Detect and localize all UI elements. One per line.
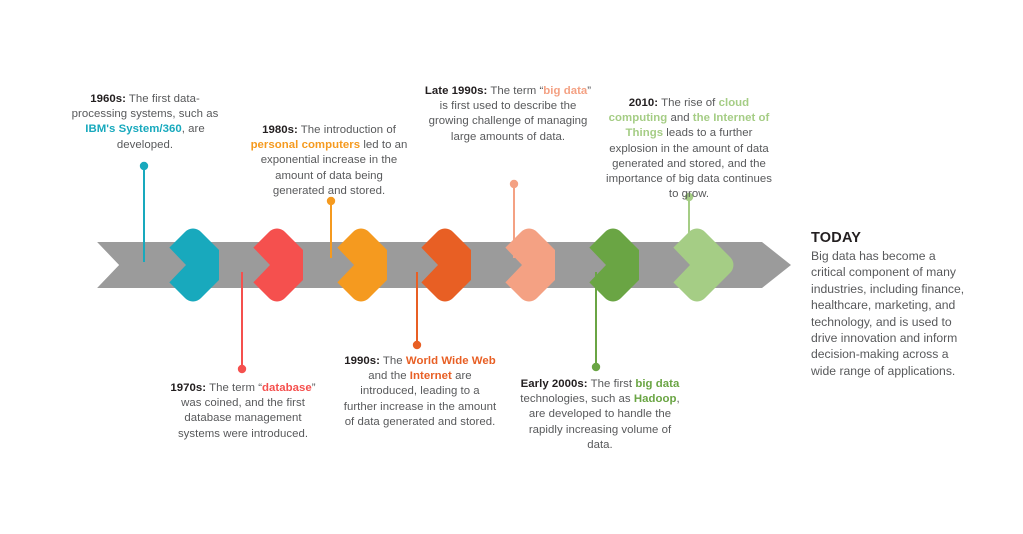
callout-1990s-text-1: The xyxy=(380,355,406,367)
today-panel: TODAY Big data has become a critical com… xyxy=(811,229,971,379)
callout-1970s-text-1: The term “ xyxy=(206,382,262,394)
callout-2010-text-1: The rise of xyxy=(658,97,718,109)
callout-1960s: 1960s: The first data-processing systems… xyxy=(66,92,224,153)
callout-late-1990s-highlight: big data xyxy=(543,85,587,97)
callout-1960s-label: 1960s: xyxy=(90,93,126,105)
callout-1960s-highlight: IBM's System/360 xyxy=(85,123,181,135)
callout-late-1990s-label: Late 1990s: xyxy=(425,85,488,97)
callout-2010: 2010: The rise of cloud computing and th… xyxy=(604,96,774,202)
today-title: TODAY xyxy=(811,229,971,247)
today-body: Big data has become a critical component… xyxy=(811,248,971,379)
callout-1980s: 1980s: The introduction of personal comp… xyxy=(249,123,409,199)
callout-2010-label: 2010: xyxy=(629,97,658,109)
callout-2010-text-mid: and xyxy=(667,112,693,124)
callout-1990s: 1990s: The World Wide Web and the Intern… xyxy=(343,354,497,430)
callout-early-2000s-highlight: big data xyxy=(635,378,679,390)
callout-1970s-highlight: database xyxy=(262,382,312,394)
infographic-canvas: 1960s: The first data-processing systems… xyxy=(0,0,1023,534)
callout-early-2000s-text-mid: technologies, such as xyxy=(520,393,634,405)
callout-late-1990s: Late 1990s: The term “big data” is first… xyxy=(422,84,594,145)
callout-early-2000s: Early 2000s: The first big data technolo… xyxy=(518,377,682,453)
callout-1990s-text-mid: and the xyxy=(368,370,410,382)
callout-1990s-highlight: World Wide Web xyxy=(406,355,496,367)
callout-1990s-highlight-2: Internet xyxy=(410,370,452,382)
callout-1980s-label: 1980s: xyxy=(262,124,298,136)
callout-1990s-label: 1990s: xyxy=(344,355,380,367)
callout-1970s-label: 1970s: xyxy=(170,382,206,394)
callout-early-2000s-text-1: The first xyxy=(588,378,636,390)
callout-1970s: 1970s: The term “database” was coined, a… xyxy=(166,381,320,442)
callout-late-1990s-text-1: The term “ xyxy=(487,85,543,97)
callout-1980s-highlight: personal computers xyxy=(251,139,361,151)
callout-early-2000s-highlight-2: Hadoop xyxy=(634,393,677,405)
callout-early-2000s-label: Early 2000s: xyxy=(521,378,588,390)
callout-1980s-text-1: The introduction of xyxy=(298,124,396,136)
